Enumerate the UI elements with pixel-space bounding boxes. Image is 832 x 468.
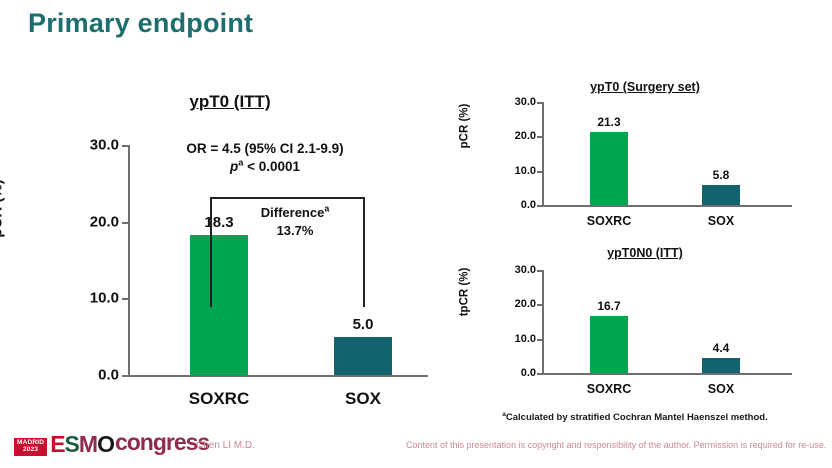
odds-ratio-text: OR = 4.5 (95% CI 2.1-9.9) <box>140 140 390 158</box>
y-tick-label-20: 20.0 <box>90 213 119 230</box>
slide-canvas: Primary endpoint ypT0 (ITT) pCR (%) 30.0… <box>0 0 832 468</box>
x-category-sox: SOX <box>345 389 381 409</box>
y-tick-20 <box>537 136 542 138</box>
y-tick-0 <box>122 375 128 377</box>
chart-title: ypT0 (ITT) <box>20 92 440 112</box>
badge-year: 2023 <box>17 447 44 454</box>
y-axis-label: pCR (%) <box>458 104 470 149</box>
y-axis-line <box>542 102 544 207</box>
x-category-soxrc: SOXRC <box>587 214 631 228</box>
esmo-letter-m: M <box>79 433 97 456</box>
x-category-sox: SOX <box>708 214 734 228</box>
y-tick-20 <box>122 222 128 224</box>
y-axis-label: pCR (%) <box>0 179 6 237</box>
difference-value: 13.7% <box>240 222 350 240</box>
esmo-letter-s: S <box>65 433 79 456</box>
esmo-letter-o: O <box>97 433 114 456</box>
x-axis-line <box>542 373 792 375</box>
chart-ypt0n0-itt: ypT0N0 (ITT) tpCR (%) 30.0 20.0 10.0 0.0… <box>470 246 820 406</box>
y-tick-label-0: 0.0 <box>521 199 536 211</box>
plot-area: 30.0 20.0 10.0 0.0 16.7 4.4 SOXRC SOX <box>542 270 792 375</box>
p-value-text: pa < 0.0001 <box>140 158 390 176</box>
bar-value-soxrc: 16.7 <box>597 299 620 313</box>
y-tick-label-20: 20.0 <box>515 298 536 310</box>
bar-soxrc <box>590 316 628 373</box>
x-axis-line <box>128 375 428 377</box>
difference-word: Difference <box>261 205 325 220</box>
footnote: aCalculated by stratified Cochran Mantel… <box>440 412 830 423</box>
bar-sox <box>334 337 392 375</box>
x-category-sox: SOX <box>708 382 734 396</box>
bar-soxrc <box>590 132 628 205</box>
presenter-name: Chen LI M.D. <box>196 440 255 451</box>
statistics-annotation: OR = 4.5 (95% CI 2.1-9.9) pa < 0.0001 <box>140 140 390 176</box>
y-axis-line <box>542 270 544 375</box>
bar-value-soxrc: 21.3 <box>597 115 620 129</box>
y-axis-line <box>128 145 130 377</box>
footnote-text: Calculated by stratified Cochran Mantel … <box>506 412 768 423</box>
y-tick-label-20: 20.0 <box>515 130 536 142</box>
y-tick-label-0: 0.0 <box>521 367 536 379</box>
esmo-wordmark: E S M O congress <box>50 433 209 456</box>
y-tick-20 <box>537 304 542 306</box>
p-rest: < 0.0001 <box>243 159 300 174</box>
bar-sox <box>702 358 740 373</box>
bracket-left-arm <box>210 197 212 307</box>
y-tick-10 <box>537 339 542 341</box>
bar-value-sox: 5.0 <box>353 316 374 333</box>
bar-value-sox: 5.8 <box>713 168 730 182</box>
esmo-congress-logo: MADRID 2023 E S M O congress <box>14 432 209 456</box>
y-tick-30 <box>537 102 542 104</box>
y-tick-label-10: 10.0 <box>90 290 119 307</box>
x-axis-line <box>542 205 792 207</box>
chart-ypt0-itt: ypT0 (ITT) pCR (%) 30.0 20.0 10.0 0.0 18… <box>20 92 440 412</box>
y-tick-label-30: 30.0 <box>515 96 536 108</box>
y-tick-30 <box>537 270 542 272</box>
difference-superscript: a <box>324 204 329 214</box>
y-tick-label-10: 10.0 <box>515 165 536 177</box>
copyright-notice: Content of this presentation is copyrigh… <box>406 440 826 450</box>
bar-value-sox: 4.4 <box>713 341 730 355</box>
y-tick-10 <box>122 298 128 300</box>
y-tick-label-30: 30.0 <box>515 264 536 276</box>
bar-sox <box>702 185 740 205</box>
y-tick-label-30: 30.0 <box>90 137 119 154</box>
page-title: Primary endpoint <box>28 8 253 39</box>
chart-title: ypT0 (Surgery set) <box>470 80 820 94</box>
y-tick-0 <box>537 205 542 207</box>
esmo-letter-e: E <box>50 433 64 456</box>
y-tick-0 <box>537 373 542 375</box>
plot-area: 30.0 20.0 10.0 0.0 21.3 5.8 SOXRC SOX <box>542 102 792 207</box>
difference-title: Differencea <box>240 204 350 222</box>
difference-label: Differencea 13.7% <box>240 204 350 239</box>
y-axis-label: tpCR (%) <box>458 268 470 317</box>
p-italic: p <box>230 159 238 174</box>
madrid-2023-badge: MADRID 2023 <box>14 438 47 456</box>
y-tick-label-10: 10.0 <box>515 333 536 345</box>
y-tick-30 <box>122 145 128 147</box>
bracket-top <box>210 197 365 199</box>
chart-title: ypT0N0 (ITT) <box>470 246 820 260</box>
y-tick-10 <box>537 171 542 173</box>
y-tick-label-0: 0.0 <box>98 367 119 384</box>
x-category-soxrc: SOXRC <box>587 382 631 396</box>
x-category-soxrc: SOXRC <box>189 389 249 409</box>
chart-ypt0-surgery-set: ypT0 (Surgery set) pCR (%) 30.0 20.0 10.… <box>470 80 820 240</box>
bracket-right-arm <box>363 197 365 307</box>
